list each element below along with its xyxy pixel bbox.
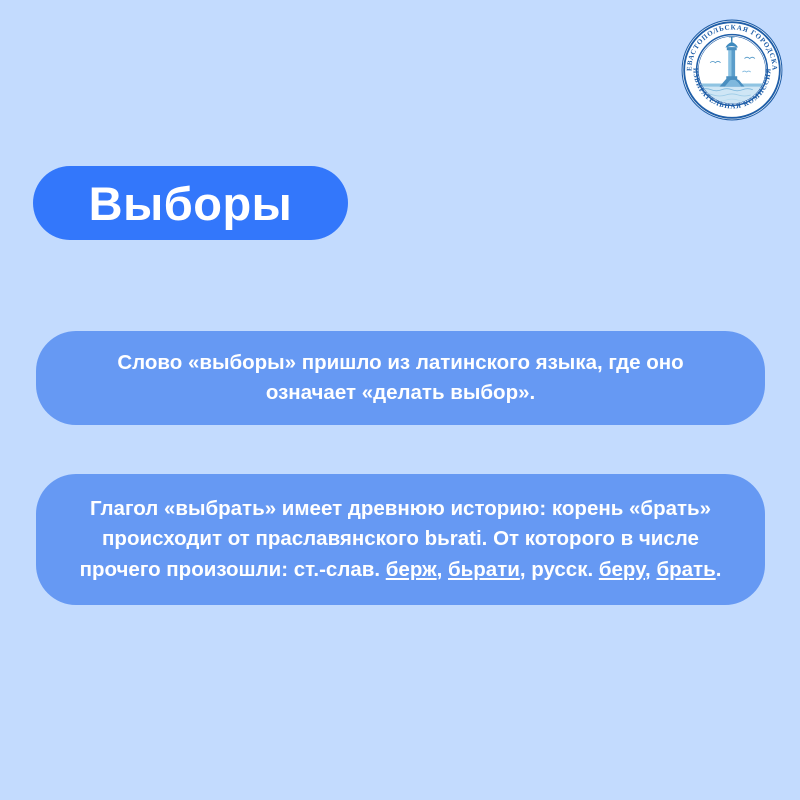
- page-title-pill: Выборы: [33, 166, 348, 240]
- info-card-etymology: Глагол «выбрать» имеет древнюю историю: …: [36, 474, 765, 605]
- underlined-term: брать: [656, 558, 715, 581]
- underlined-term: беру: [599, 558, 645, 581]
- underlined-term: берж: [386, 558, 437, 581]
- page-title: Выборы: [89, 180, 293, 227]
- underlined-term: бьрати: [448, 558, 520, 581]
- slide-canvas: • СЕВАСТОПОЛЬСКАЯ ГОРОДСКАЯ • ИЗБИРАТЕЛЬ…: [0, 0, 800, 800]
- info-card-definition-text: Слово «выборы» пришло из латинского язык…: [70, 348, 731, 408]
- info-card-definition: Слово «выборы» пришло из латинского язык…: [36, 331, 765, 425]
- info-card-etymology-text: Глагол «выбрать» имеет древнюю историю: …: [70, 494, 731, 584]
- election-commission-emblem: • СЕВАСТОПОЛЬСКАЯ ГОРОДСКАЯ • ИЗБИРАТЕЛЬ…: [680, 18, 784, 122]
